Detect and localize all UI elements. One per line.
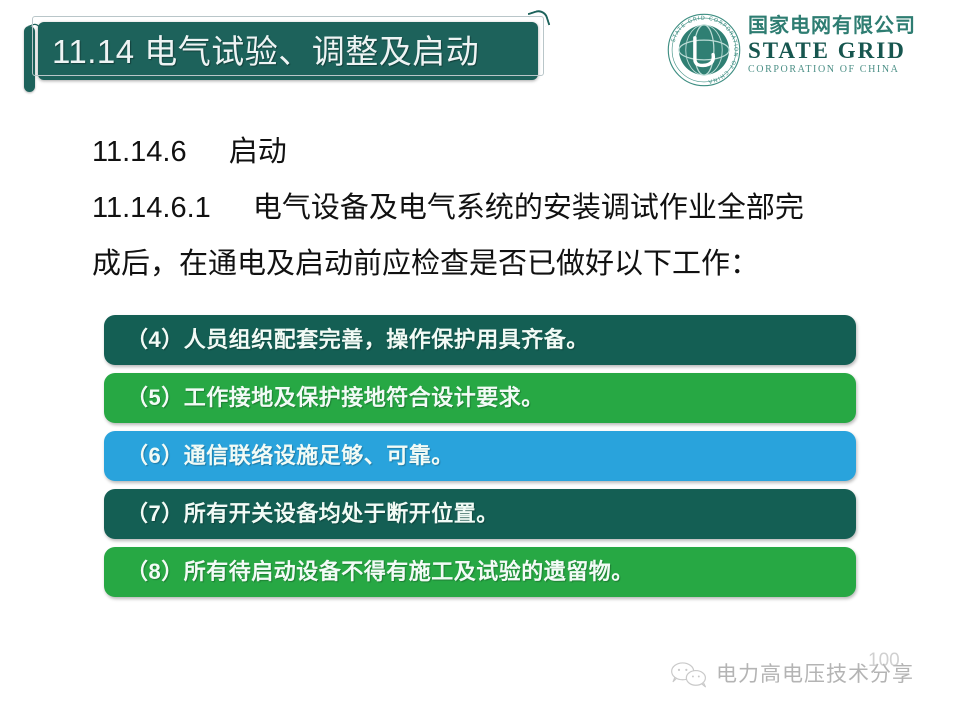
checklist-item-5[interactable]: （5）工作接地及保护接地符合设计要求。	[104, 373, 856, 423]
checklist-item-7-label: （7）所有开关设备均处于断开位置。	[126, 489, 499, 539]
checklist-item-7[interactable]: （7）所有开关设备均处于断开位置。	[104, 489, 856, 539]
logo-wordmark: 国家电网有限公司 STATE GRID CORPORATION OF CHINA	[748, 14, 948, 77]
checklist-item-4[interactable]: （4）人员组织配套完善，操作保护用具齐备。	[104, 315, 856, 365]
logo-english-name: STATE GRID	[748, 38, 948, 63]
checklist-item-5-label: （5）工作接地及保护接地符合设计要求。	[126, 373, 544, 423]
wechat-icon	[668, 660, 712, 690]
checklist-item-4-label: （4）人员组织配套完善，操作保护用具齐备。	[126, 315, 589, 365]
section-heading-number: 11.14.6	[92, 136, 187, 168]
paragraph-line-2: 成后，在通电及启动前应检查是否已做好以下工作：	[92, 236, 892, 292]
footer-watermark: 电力高电压技术分享	[660, 650, 950, 700]
paragraph-line-1: 11.14.6.1 电气设备及电气系统的安装调试作业全部完	[92, 180, 892, 236]
state-grid-globe-emblem-icon: STATE GRID CORPORATION OF CHINA	[666, 12, 742, 88]
paragraph-text-first-line: 电气设备及电气系统的安装调试作业全部完	[253, 192, 804, 224]
slide-title-banner: 11.14 电气试验、调整及启动	[18, 22, 538, 82]
checklist-item-6[interactable]: （6）通信联络设施足够、可靠。	[104, 431, 856, 481]
page-title: 11.14 电气试验、调整及启动	[52, 28, 532, 76]
checklist-items: （4）人员组织配套完善，操作保护用具齐备。 （5）工作接地及保护接地符合设计要求…	[104, 315, 856, 605]
title-decorative-spine	[24, 26, 35, 92]
paragraph-number: 11.14.6.1	[92, 192, 211, 224]
checklist-item-8[interactable]: （8）所有待启动设备不得有施工及试验的遗留物。	[104, 547, 856, 597]
logo-chinese-name: 国家电网有限公司	[748, 14, 948, 38]
page-number: 100	[868, 650, 900, 672]
checklist-item-8-label: （8）所有待启动设备不得有施工及试验的遗留物。	[126, 547, 634, 597]
slide-body: 11.14.6 启动 11.14.6.1 电气设备及电气系统的安装调试作业全部完…	[92, 124, 892, 292]
section-heading: 11.14.6 启动	[92, 124, 892, 180]
checklist-item-6-label: （6）通信联络设施足够、可靠。	[126, 431, 454, 481]
logo-english-subtitle: CORPORATION OF CHINA	[748, 63, 948, 77]
section-heading-text: 启动	[229, 136, 287, 168]
state-grid-logo: STATE GRID CORPORATION OF CHINA 国家电网有限公司…	[660, 8, 950, 90]
